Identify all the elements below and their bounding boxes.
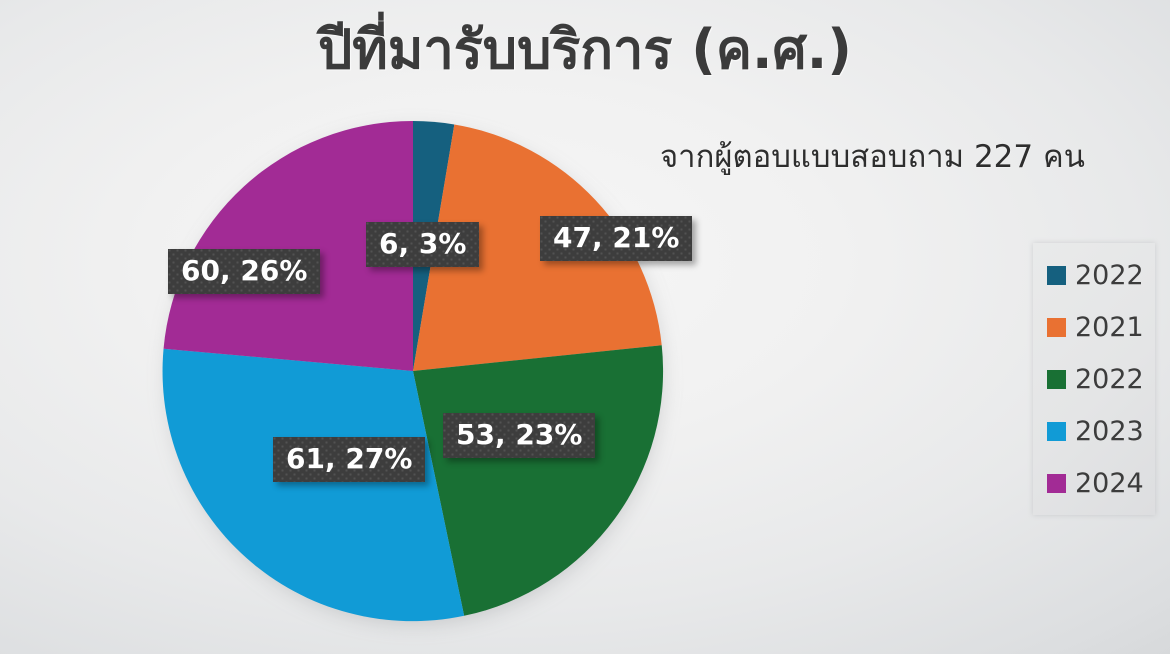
- legend-item-label: 2021: [1075, 314, 1144, 341]
- data-label-2022-a: 6, 3%: [366, 222, 479, 267]
- data-label-2023: 61, 27%: [273, 437, 425, 482]
- slide-canvas: ปีที่มารับบริการ (ค.ศ.) จากผู้ตอบแบบสอบถ…: [0, 0, 1170, 654]
- chart-subtitle: จากผู้ตอบแบบสอบถาม 227 คน: [660, 131, 1085, 181]
- page-title: ปีที่มารับบริการ (ค.ศ.): [0, 22, 1170, 79]
- legend-swatch-icon: [1047, 318, 1066, 337]
- legend-item-2023[interactable]: 2023: [1033, 408, 1155, 454]
- legend-item-label: 2023: [1075, 418, 1144, 445]
- chart-legend: 2022 2021 2022 2023 2024: [1033, 243, 1155, 515]
- legend-item-2021[interactable]: 2021: [1033, 304, 1155, 350]
- legend-item-2022-b[interactable]: 2022: [1033, 356, 1155, 402]
- legend-item-label: 2024: [1075, 470, 1144, 497]
- data-label-2022-b: 53, 23%: [443, 413, 595, 458]
- data-label-2021: 47, 21%: [540, 216, 692, 261]
- legend-item-label: 2022: [1075, 262, 1144, 289]
- legend-item-2024[interactable]: 2024: [1033, 460, 1155, 506]
- data-label-2024: 60, 26%: [168, 249, 320, 294]
- legend-swatch-icon: [1047, 422, 1066, 441]
- legend-item-label: 2022: [1075, 366, 1144, 393]
- legend-item-2022-a[interactable]: 2022: [1033, 252, 1155, 298]
- legend-swatch-icon: [1047, 370, 1066, 389]
- legend-swatch-icon: [1047, 474, 1066, 493]
- pie-chart: [160, 118, 666, 624]
- legend-swatch-icon: [1047, 266, 1066, 285]
- pie-chart-svg: [160, 118, 666, 624]
